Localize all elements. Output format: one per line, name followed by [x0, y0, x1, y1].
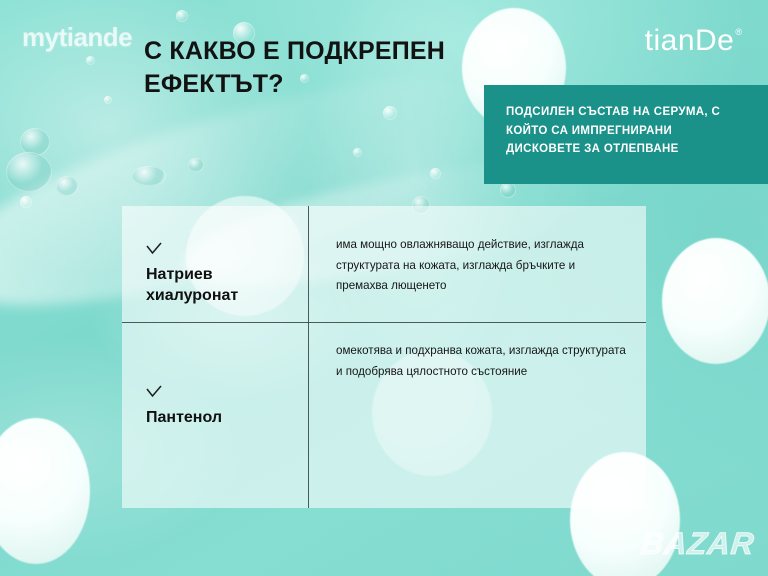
watermark-mytiande: mytiande: [22, 22, 132, 53]
ingredient-description: омекотява и подхранва кожата, изглажда с…: [336, 341, 628, 382]
gel-bubble: [86, 56, 95, 65]
tiande-logo: tianDe ®: [645, 26, 742, 56]
table-row: Пантенол омекотява и подхранва кожата, и…: [122, 323, 646, 508]
gel-bubble: [176, 10, 188, 22]
gel-bubble: [383, 106, 397, 120]
table-cell-description: омекотява и подхранва кожата, изглажда с…: [308, 323, 646, 508]
gel-bubble: [20, 196, 32, 208]
gel-bubble: [132, 166, 166, 186]
callout-box: ПОДСИЛЕН СЪСТАВ НА СЕРУМА, С КОЙТО СА ИМ…: [484, 85, 768, 184]
registered-mark-icon: ®: [735, 27, 742, 37]
gel-bubble: [188, 158, 204, 172]
watermark-bazar: BAZAR: [639, 526, 756, 562]
gel-bubble: [6, 152, 52, 192]
cotton-pad-disc: [662, 238, 768, 364]
table-cell-description: има мощно овлажняващо действие, изглажда…: [308, 206, 646, 322]
table-cell-ingredient: Натриев хиалуронат: [122, 206, 308, 322]
tiande-logo-text: tianDe: [645, 26, 735, 56]
callout-text: ПОДСИЛЕН СЪСТАВ НА СЕРУМА, С КОЙТО СА ИМ…: [506, 103, 746, 159]
gel-bubble: [353, 148, 362, 157]
table-row: Натриев хиалуронат има мощно овлажняващо…: [122, 206, 646, 322]
ingredient-description: има мощно овлажняващо действие, изглажда…: [336, 235, 628, 297]
gel-bubble: [56, 176, 78, 196]
gel-bubble: [104, 96, 112, 104]
checkmark-icon: [146, 385, 162, 399]
table-cell-ingredient: Пантенол: [122, 323, 308, 508]
checkmark-icon: [146, 242, 162, 256]
slide-canvas: mytiande tianDe ® С КАКВО Е ПОДКРЕПЕН ЕФ…: [0, 0, 768, 576]
ingredients-table: Натриев хиалуронат има мощно овлажняващо…: [122, 206, 646, 508]
gel-bubble: [430, 168, 441, 179]
ingredient-name: Натриев хиалуронат: [146, 265, 288, 306]
page-title: С КАКВО Е ПОДКРЕПЕН ЕФЕКТЪТ?: [144, 35, 524, 101]
gel-bubble: [500, 182, 516, 198]
ingredient-name: Пантенол: [146, 408, 288, 428]
